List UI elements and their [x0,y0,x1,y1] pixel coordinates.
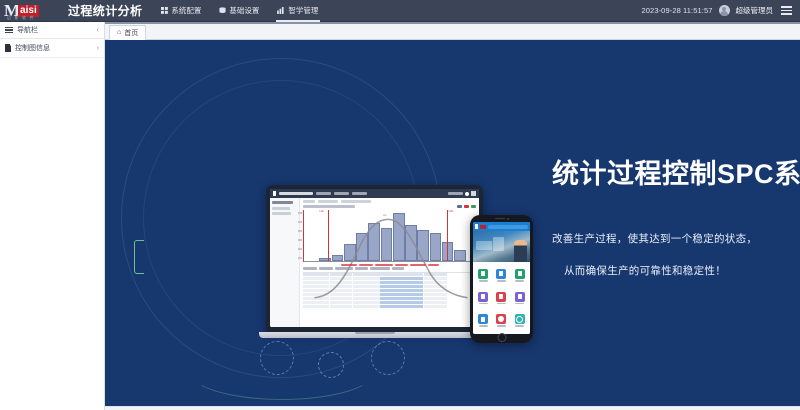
table-cell [389,301,399,304]
phone-app-label [497,303,506,305]
table-cell [371,305,380,308]
table-cell [400,301,410,304]
clock-timestamp: 2023-09-28 11:51:57 [642,6,713,15]
collapse-chevron-left-icon[interactable]: ‹ [97,27,99,34]
document-icon [5,44,11,52]
grid-icon [161,7,168,14]
nav-tab-label: 基础设置 [229,5,259,16]
phone-app-tile[interactable] [493,310,510,332]
chart-normal-curve [304,210,476,299]
chevron-down-icon[interactable]: › [97,45,99,52]
table-cell [303,301,310,304]
phone-app-label [497,325,506,327]
table-cell [362,305,371,308]
laptop-lid: LSL CL USL [266,185,483,332]
phone-app-tile[interactable] [493,287,510,309]
chart-usl-line [447,210,448,261]
mock-sidebar [270,198,300,327]
mock-nav-item [316,192,331,195]
table-row [303,301,476,304]
hero-text-block: 统计过程控制SPC系统 改善生产过程，使其达到一个稳定的状态， 从而确保生产的可… [552,160,800,277]
home-icon: ⌂ [117,29,121,36]
mock-nav-item [334,192,349,195]
mock-nav-item [352,192,367,195]
gear-icon [515,314,525,324]
table-cell [353,301,362,304]
table-cell [424,301,436,304]
mock-breadcrumb [303,200,476,203]
table-cell [362,301,371,304]
table-cell [436,305,446,308]
machine-icon [515,269,525,279]
clipboard-icon [478,269,488,279]
mock-chart-header [303,205,476,208]
hero-subtitle-line-2: 从而确保生产的可靠性和稳定性！ [552,266,800,277]
mock-avatar [465,192,469,196]
phone-app-grid [473,262,530,334]
laptop-screen: LSL CL USL [270,189,479,327]
document-check-icon [496,269,506,279]
decor-dotted-circle-center [318,352,344,378]
database-icon [219,7,226,14]
sidebar: 导航栏 ‹ 控制图信息 › [0,22,105,410]
phone-app-tile[interactable] [511,310,528,332]
tab-home[interactable]: ⌂ 首页 [109,25,146,40]
mock-chart-legend [457,205,476,208]
legend-swatch [471,205,476,208]
flow-icon [478,292,488,302]
phone-banner-photo [473,231,530,262]
phone-app-label [479,325,488,327]
chart-usl-label: USL [448,210,453,213]
nav-tab-label: 智学管理 [288,5,318,16]
header-right: 2023-09-28 11:51:57 超级管理员 [642,4,800,17]
mock-app-body: LSL CL USL [270,198,479,327]
table-cell [330,301,352,304]
logo-tagline: 迈 斯 软 件 [7,15,35,21]
table-cell [310,301,329,304]
chart-lsl-line [328,210,329,261]
hero-subtitle-line-1: 改善生产过程，使其达到一个稳定的状态， [552,234,800,245]
table-cell [303,305,310,308]
brand-logo[interactable]: M aisi 迈 斯 软 件 过程统计分析 [0,1,142,21]
app-body: 导航栏 ‹ 控制图信息 › ⌂ 首页 [0,22,800,410]
hero-subtitle: 改善生产过程，使其达到一个稳定的状态， 从而确保生产的可靠性和稳定性！ [552,234,800,277]
legend-swatch [457,205,462,208]
phone-logo-icon [475,224,478,229]
pie-chart-icon [496,314,506,324]
phone-screen [473,222,530,334]
phone-app-label [479,280,488,282]
phone-header-title [488,225,528,229]
phone-notch [495,218,509,220]
mock-sidebar-item [272,212,291,215]
laptop-base [259,332,490,338]
banner-worker [514,240,527,262]
hamburger-icon[interactable] [5,27,13,34]
table-cell [371,301,380,304]
phone-home-button[interactable] [497,333,506,342]
phone-app-label [515,280,524,282]
app-title: 过程统计分析 [68,2,142,19]
table-row [303,305,476,308]
phone-app-tile[interactable] [475,265,492,287]
mock-app-header [270,189,479,198]
banner-machine [493,237,504,251]
footer-strip [105,406,800,410]
sidebar-title: 导航栏 [17,25,93,35]
nav-tab-basic-settings[interactable]: 基础设置 [210,0,268,22]
sidebar-item-control-chart-info[interactable]: 控制图信息 › [0,39,104,58]
nav-tab-system-config[interactable]: 系统配置 [152,0,210,22]
decor-green-bracket [134,240,144,274]
hamburger-menu-icon[interactable] [779,4,794,17]
phone-app-tile[interactable] [511,287,528,309]
mock-chart-title [303,205,355,208]
phone-app-label [497,280,506,282]
chart-bar-icon [277,7,285,14]
tab-label: 首页 [124,28,138,38]
chart-cl-label: CL [383,214,386,217]
table-cell [389,305,399,308]
user-name-label[interactable]: 超级管理员 [736,5,774,16]
phone-app-label [479,303,488,305]
alert-icon [496,292,506,302]
header-nav: 系统配置 基础设置 智学管理 [152,0,327,22]
logo-mark: M aisi 迈 斯 软 件 [4,1,66,21]
table-cell [411,305,423,308]
mock-main-panel: LSL CL USL [300,198,479,327]
chart-lsl-label: LSL [319,210,324,213]
app-window: M aisi 迈 斯 软 件 过程统计分析 系统配置 基础设置 [0,0,800,410]
decor-dotted-circle-right [371,341,405,375]
table-cell [380,301,389,304]
mock-sidebar-item [272,201,293,204]
table-cell [310,305,329,308]
main-content: ⌂ 首页 [105,22,800,410]
chart-y-axis-ticks [298,212,302,259]
hero-title: 统计过程控制SPC系统 [552,160,800,190]
phone-app-tile[interactable] [475,287,492,309]
mock-menu-icon [471,191,476,196]
banner-machine [476,241,492,250]
phone-app-label [515,325,524,327]
mock-timestamp [448,192,463,195]
mock-sidebar-item [272,207,290,210]
table-cell [424,305,436,308]
table-cell [411,301,423,304]
nav-tab-smart-management[interactable]: 智学管理 [268,0,327,22]
sidebar-item-label: 控制图信息 [15,43,93,53]
report-icon [478,314,488,324]
phone-mockup [470,215,533,343]
sidebar-header[interactable]: 导航栏 ‹ [0,22,104,39]
laptop-mockup: LSL CL USL [266,185,483,338]
mock-histogram-chart: LSL CL USL [303,210,476,262]
user-avatar-icon[interactable] [719,5,730,16]
phone-app-tile[interactable] [511,265,528,287]
mock-header-right [448,191,476,196]
top-header: M aisi 迈 斯 软 件 过程统计分析 系统配置 基础设置 [0,0,800,22]
nav-tab-label: 系统配置 [171,5,201,16]
legend-swatch [464,205,469,208]
mock-logo-icon [273,191,276,196]
phone-app-header [473,222,530,231]
table-cell [380,305,389,308]
decor-dotted-circle-left [260,341,294,375]
mock-app-title [279,192,313,195]
collect-icon [515,292,525,302]
table-cell [330,305,352,308]
table-cell [400,305,410,308]
phone-logo-accent [480,225,486,229]
phone-app-label [515,303,524,305]
table-cell [353,305,362,308]
page-tabbar: ⌂ 首页 [105,22,800,40]
phone-app-tile[interactable] [493,265,510,287]
hero-banner: LSL CL USL [105,40,800,406]
phone-app-tile[interactable] [475,310,492,332]
table-cell [436,301,446,304]
